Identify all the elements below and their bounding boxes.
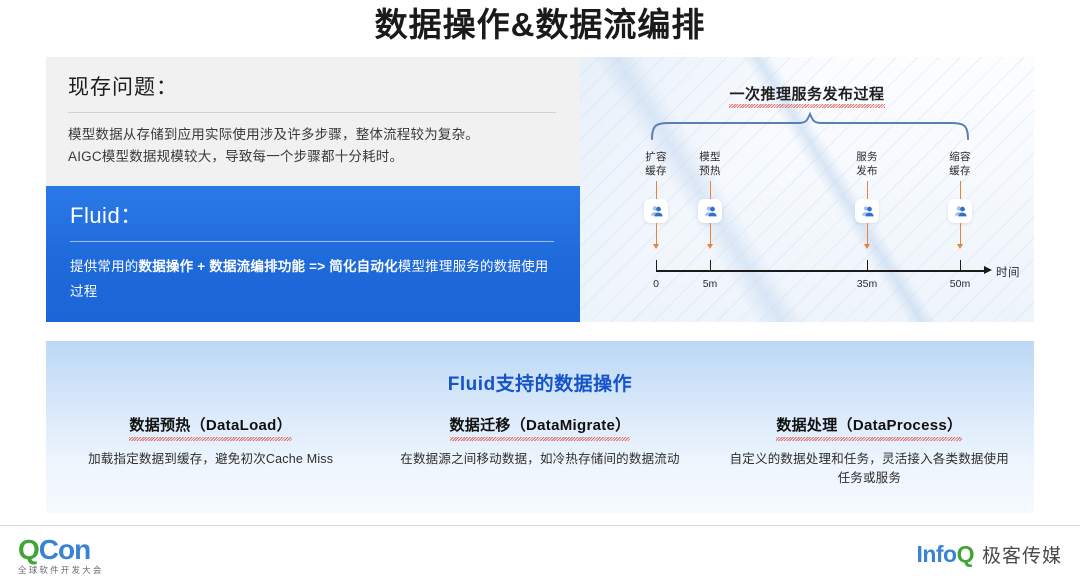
operation-desc-dataload: 加载指定数据到缓存，避免初次Cache Miss: [68, 450, 353, 469]
fluid-body: 提供常用的数据操作 + 数据流编排功能 => 简化自动化模型推理服务的数据使用过…: [70, 254, 556, 304]
time-axis-label: 时间: [996, 264, 1020, 280]
step-label-3-line1: 服务: [832, 150, 902, 164]
span-brace-icon: [650, 111, 970, 141]
diagram-title: 一次推理服务发布过程: [580, 83, 1034, 106]
fluid-body-part-2: 数据操作 + 数据流编排功能: [139, 259, 306, 274]
axis-tick-4: [960, 260, 962, 271]
step-arrow-bottom-3: [867, 223, 869, 245]
diagram-title-text: 一次推理服务发布过程: [729, 83, 884, 106]
axis-tick-3: [867, 260, 869, 271]
qcon-logo: QCon 全球软件开发大会: [18, 536, 104, 575]
step-arrow-head-4: [957, 244, 963, 249]
infoq-wordmark: InfoQ: [916, 543, 974, 566]
step-arrow-bottom-2: [710, 223, 712, 245]
axis-tick-label-1: 0: [632, 278, 680, 290]
existing-problem-line-1: 模型数据从存储到应用实际使用涉及许多步骤，整体流程较为复杂。: [68, 124, 558, 146]
infoq-logo: InfoQ 极客传媒: [916, 543, 1062, 566]
supported-operations-grid: 数据预热（DataLoad） 加载指定数据到缓存，避免初次Cache Miss …: [46, 415, 1034, 488]
operation-card-datamigrate: 数据迁移（DataMigrate） 在数据源之间移动数据，如冷热存储间的数据流动: [375, 415, 704, 488]
qcon-mark-q: Q: [18, 534, 39, 565]
supported-operations-panel: Fluid支持的数据操作 数据预热（DataLoad） 加载指定数据到缓存，避免…: [46, 341, 1034, 513]
operation-title-datamigrate: 数据迁移（DataMigrate）: [397, 415, 682, 439]
fluid-heading: Fluid：: [70, 200, 556, 232]
step-label-4-line2: 缓存: [925, 164, 995, 178]
infoq-mark-q: Q: [957, 541, 974, 567]
step-arrow-head-2: [707, 244, 713, 249]
step-icon-1: [644, 199, 668, 223]
operation-title-dataload: 数据预热（DataLoad）: [68, 415, 353, 439]
step-icon-3: [855, 199, 879, 223]
existing-problem-divider: [68, 112, 556, 113]
step-icon-2: [698, 199, 722, 223]
operation-title-datamigrate-text: 数据迁移（DataMigrate）: [450, 415, 631, 439]
time-axis-line: [656, 270, 985, 272]
fluid-card: Fluid： 提供常用的数据操作 + 数据流编排功能 => 简化自动化模型推理服…: [46, 186, 580, 322]
step-arrow-top-4: [960, 181, 962, 199]
step-label-3: 服务 发布: [832, 150, 902, 178]
axis-tick-label-2: 5m: [686, 278, 734, 290]
step-arrow-head-3: [864, 244, 870, 249]
qcon-wordmark: QCon: [18, 536, 104, 564]
step-label-4-line1: 缩容: [925, 150, 995, 164]
operation-title-dataprocess-text: 数据处理（DataProcess）: [776, 415, 962, 439]
qcon-mark-con: Con: [39, 534, 90, 565]
infoq-chinese-name: 极客传媒: [982, 547, 1062, 566]
axis-tick-1: [656, 260, 658, 271]
page-title: 数据操作&数据流编排: [0, 2, 1080, 48]
users-icon: [649, 204, 664, 219]
users-icon: [860, 204, 875, 219]
operation-title-dataload-text: 数据预热（DataLoad）: [129, 415, 292, 439]
existing-problem-line-2: AIGC模型数据规模较大，导致每一个步骤都十分耗时。: [68, 146, 558, 168]
step-arrow-top-3: [867, 181, 869, 199]
axis-tick-label-3: 35m: [843, 278, 891, 290]
step-arrow-bottom-4: [960, 223, 962, 245]
existing-problem-body: 模型数据从存储到应用实际使用涉及许多步骤，整体流程较为复杂。 AIGC模型数据规…: [68, 124, 558, 168]
operation-desc-dataprocess: 自定义的数据处理和任务，灵活接入各类数据使用任务或服务: [727, 450, 1012, 488]
operation-card-dataprocess: 数据处理（DataProcess） 自定义的数据处理和任务，灵活接入各类数据使用…: [705, 415, 1034, 488]
step-label-2: 模型 预热: [675, 150, 745, 178]
step-arrow-top-2: [710, 181, 712, 199]
time-axis-arrow-icon: [984, 266, 992, 274]
step-label-2-line1: 模型: [675, 150, 745, 164]
operation-desc-datamigrate: 在数据源之间移动数据，如冷热存储间的数据流动: [397, 450, 682, 469]
users-icon: [703, 204, 718, 219]
step-label-2-line2: 预热: [675, 164, 745, 178]
existing-problem-card: 现存问题： 模型数据从存储到应用实际使用涉及许多步骤，整体流程较为复杂。 AIG…: [46, 57, 580, 186]
step-icon-4: [948, 199, 972, 223]
fluid-divider: [70, 241, 554, 242]
axis-tick-2: [710, 260, 712, 271]
release-process-diagram: 一次推理服务发布过程 扩容 缓存 模型 预热 服务: [580, 57, 1034, 322]
step-arrow-head-1: [653, 244, 659, 249]
operation-title-dataprocess: 数据处理（DataProcess）: [727, 415, 1012, 439]
qcon-subtitle: 全球软件开发大会: [18, 566, 104, 575]
step-label-3-line2: 发布: [832, 164, 902, 178]
step-arrow-top-1: [656, 181, 658, 199]
fluid-body-part-3: =>: [305, 259, 329, 274]
fluid-body-part-1: 提供常用的: [70, 259, 139, 274]
fluid-body-part-4: 简化自动化: [329, 259, 398, 274]
axis-tick-label-4: 50m: [936, 278, 984, 290]
step-label-4: 缩容 缓存: [925, 150, 995, 178]
users-icon: [953, 204, 968, 219]
step-arrow-bottom-1: [656, 223, 658, 245]
supported-operations-title: Fluid支持的数据操作: [46, 369, 1034, 396]
operation-card-dataload: 数据预热（DataLoad） 加载指定数据到缓存，避免初次Cache Miss: [46, 415, 375, 488]
footer-divider: [0, 525, 1080, 526]
infoq-mark-info: Info: [916, 541, 956, 567]
existing-problem-heading: 现存问题：: [68, 73, 558, 103]
